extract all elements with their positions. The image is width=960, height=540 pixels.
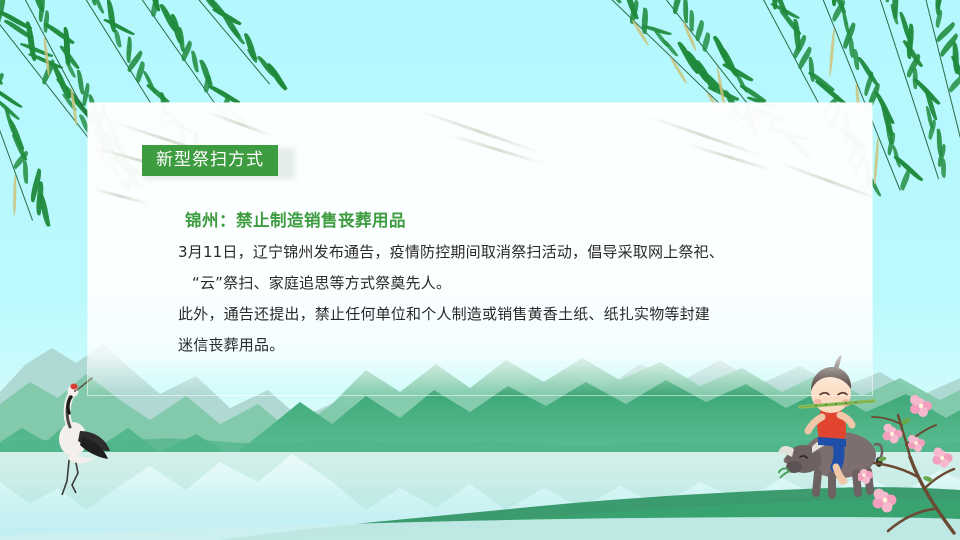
paragraph-2-line-2: 迷信丧葬用品。 [178,330,838,361]
paragraph-2-line-1: 此外，通告还提出，禁止任何单位和个人制造或销售黄香土纸、纸扎实物等封建 [178,299,838,330]
paragraph-1-line-1: 3月11日，辽宁锦州发布通告，疫情防控期间取消祭扫活动，倡导采取网上祭祀、 [178,237,838,268]
slide-canvas: 新型祭扫方式 锦州：禁止制造销售丧葬用品 3月11日，辽宁锦州发布通告，疫情防控… [0,0,960,540]
paragraph-2: 此外，通告还提出，禁止任何单位和个人制造或销售黄香土纸、纸扎实物等封建 迷信丧葬… [178,299,838,361]
peach-blossom-icon [858,385,960,535]
grass-bank-lower [0,505,960,540]
section-badge[interactable]: 新型祭扫方式 [142,145,278,176]
paragraph-1-line-2: “云”祭扫、家庭追思等方式祭奠先人。 [178,268,838,299]
headline: 锦州：禁止制造销售丧葬用品 [185,207,406,231]
content-card: 新型祭扫方式 锦州：禁止制造销售丧葬用品 3月11日，辽宁锦州发布通告，疫情防控… [88,103,872,395]
paragraph-1: 3月11日，辽宁锦州发布通告，疫情防控期间取消祭扫活动，倡导采取网上祭祀、 “云… [178,237,838,299]
